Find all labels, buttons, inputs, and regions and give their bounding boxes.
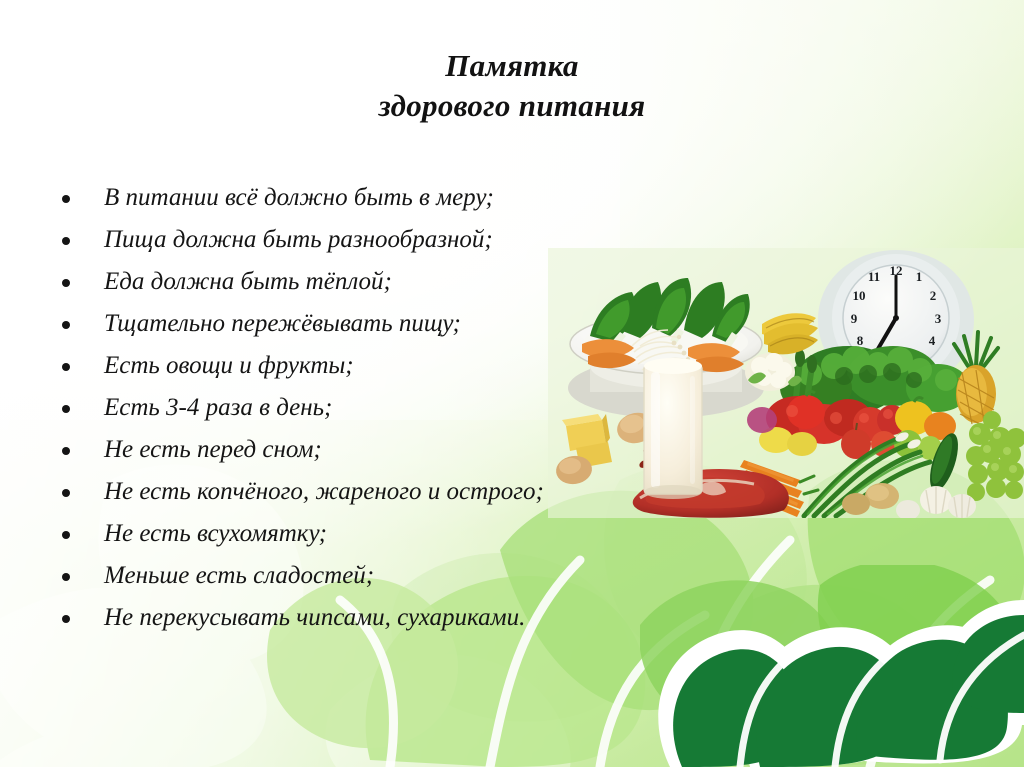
svg-text:11: 11 [868, 269, 880, 284]
list-item: В питании всё должно быть в меру; [56, 177, 816, 219]
bullet-dot-icon [62, 405, 70, 413]
bullet-dot-icon [62, 447, 70, 455]
list-item-label: Еда должна быть тёплой; [104, 268, 392, 295]
bullet-dot-icon [62, 363, 70, 371]
bullet-dot-icon [62, 531, 70, 539]
page-title: Памятка здорового питания [0, 46, 1024, 126]
list-item: Тщательно пережёвывать пищу; [56, 303, 816, 345]
svg-text:10: 10 [853, 288, 866, 303]
list-item-label: Не есть всухомятку; [104, 520, 327, 547]
bullet-dot-icon [62, 279, 70, 287]
bullet-dot-icon [62, 195, 70, 203]
list-item-label: В питании всё должно быть в меру; [104, 184, 494, 211]
list-item: Есть овощи и фрукты; [56, 345, 816, 387]
svg-text:8: 8 [857, 333, 864, 348]
list-item: Не перекусывать чипсами, сухариками. [56, 597, 816, 639]
list-item: Не есть перед сном; [56, 429, 816, 471]
page-title-line-2: здорового питания [0, 86, 1024, 126]
healthy-eating-rules-list: В питании всё должно быть в меру; Пища д… [56, 177, 816, 639]
list-item: Пища должна быть разнообразной; [56, 219, 816, 261]
list-item-label: Есть 3-4 раза в день; [104, 394, 332, 421]
list-item-label: Не есть копчёного, жареного и острого; [104, 478, 544, 505]
list-item-label: Пища должна быть разнообразной; [104, 226, 493, 253]
list-item-label: Есть овощи и фрукты; [104, 352, 354, 379]
list-item: Не есть копчёного, жареного и острого; [56, 471, 816, 513]
bullet-dot-icon [62, 237, 70, 245]
list-item-label: Не перекусывать чипсами, сухариками. [104, 604, 525, 631]
bullet-dot-icon [62, 321, 70, 329]
svg-text:4: 4 [929, 333, 936, 348]
list-item: Меньше есть сладостей; [56, 555, 816, 597]
svg-text:9: 9 [851, 311, 858, 326]
list-item-label: Тщательно пережёвывать пищу; [104, 310, 461, 337]
list-item-label: Не есть перед сном; [104, 436, 322, 463]
slide-canvas: 12 1 2 3 4 5 6 7 8 9 10 11 [0, 0, 1024, 767]
svg-text:1: 1 [916, 269, 923, 284]
bullet-dot-icon [62, 615, 70, 623]
bullet-dot-icon [62, 573, 70, 581]
list-item: Есть 3-4 раза в день; [56, 387, 816, 429]
svg-text:3: 3 [935, 311, 942, 326]
list-item: Не есть всухомятку; [56, 513, 816, 555]
list-item: Еда должна быть тёплой; [56, 261, 816, 303]
svg-text:2: 2 [930, 288, 937, 303]
page-title-line-1: Памятка [0, 46, 1024, 86]
bullet-dot-icon [62, 489, 70, 497]
list-item-label: Меньше есть сладостей; [104, 562, 374, 589]
